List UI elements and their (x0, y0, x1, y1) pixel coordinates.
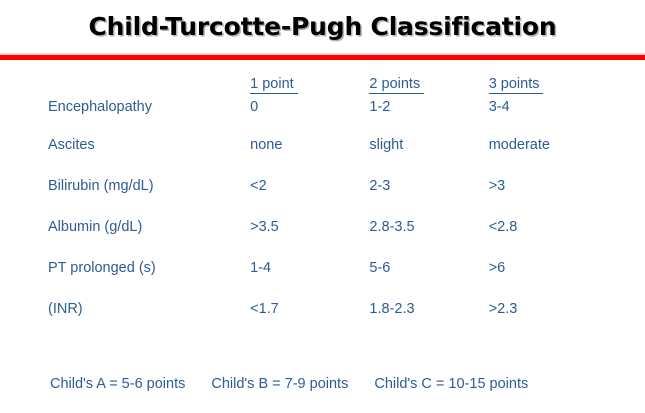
cell-encephalopathy-3-points: 3-4 (489, 98, 608, 137)
cell-albumin-3-points: <2.8 (489, 219, 608, 260)
row-label-pt-prolonged: PT prolonged (s) (48, 260, 250, 301)
column-header-3-points: 3 points (489, 76, 608, 98)
column-header-criterion (48, 76, 250, 98)
table-header-row: 1 point 2 points 3 points (48, 76, 608, 98)
table-row: PT prolonged (s) 1-4 5-6 >6 (48, 260, 608, 301)
score-summary-footer: Child's A = 5-6 points Child's B = 7-9 p… (50, 376, 630, 392)
cell-encephalopathy-2-points: 1-2 (369, 98, 488, 137)
cell-inr-2-points: 1.8-2.3 (369, 301, 488, 342)
cell-ascites-3-points: moderate (489, 137, 608, 178)
cell-bilirubin-2-points: 2-3 (369, 178, 488, 219)
cell-inr-3-points: >2.3 (489, 301, 608, 342)
table-row: Ascites none slight moderate (48, 137, 608, 178)
cell-ascites-2-points: slight (369, 137, 488, 178)
summary-child-a: Child's A = 5-6 points (50, 376, 185, 392)
row-label-bilirubin: Bilirubin (mg/dL) (48, 178, 250, 219)
cell-pt-prolonged-2-points: 5-6 (369, 260, 488, 301)
cell-ascites-1-point: none (250, 137, 369, 178)
classification-table-wrapper: 1 point 2 points 3 points Encephalopathy… (48, 76, 628, 342)
column-header-2-points: 2 points (369, 76, 488, 98)
page-title: Child-Turcotte-Pugh Classification (88, 12, 556, 41)
cell-albumin-1-point: >3.5 (250, 219, 369, 260)
summary-child-b: Child's B = 7-9 points (211, 376, 348, 392)
table-row: Encephalopathy 0 1-2 3-4 (48, 98, 608, 137)
cell-inr-1-point: <1.7 (250, 301, 369, 342)
cell-encephalopathy-1-point: 0 (250, 98, 369, 137)
row-label-albumin: Albumin (g/dL) (48, 219, 250, 260)
column-header-1-point: 1 point (250, 76, 369, 98)
row-label-encephalopathy: Encephalopathy (48, 98, 250, 137)
cell-pt-prolonged-1-point: 1-4 (250, 260, 369, 301)
cell-bilirubin-3-points: >3 (489, 178, 608, 219)
row-label-inr: (INR) (48, 301, 250, 342)
table-header: 1 point 2 points 3 points (48, 76, 608, 98)
table-row: Bilirubin (mg/dL) <2 2-3 >3 (48, 178, 608, 219)
summary-child-c: Child's C = 10-15 points (374, 376, 528, 392)
cell-albumin-2-points: 2.8-3.5 (369, 219, 488, 260)
cell-pt-prolonged-3-points: >6 (489, 260, 608, 301)
table-body: Encephalopathy 0 1-2 3-4 Ascites none sl… (48, 98, 608, 342)
row-label-ascites: Ascites (48, 137, 250, 178)
cell-bilirubin-1-point: <2 (250, 178, 369, 219)
table-row: Albumin (g/dL) >3.5 2.8-3.5 <2.8 (48, 219, 608, 260)
title-divider-rule (0, 55, 645, 60)
title-block: Child-Turcotte-Pugh Classification (0, 12, 645, 41)
table-row: (INR) <1.7 1.8-2.3 >2.3 (48, 301, 608, 342)
classification-table: 1 point 2 points 3 points Encephalopathy… (48, 76, 608, 342)
slide-root: Child-Turcotte-Pugh Classification 1 poi… (0, 0, 645, 413)
